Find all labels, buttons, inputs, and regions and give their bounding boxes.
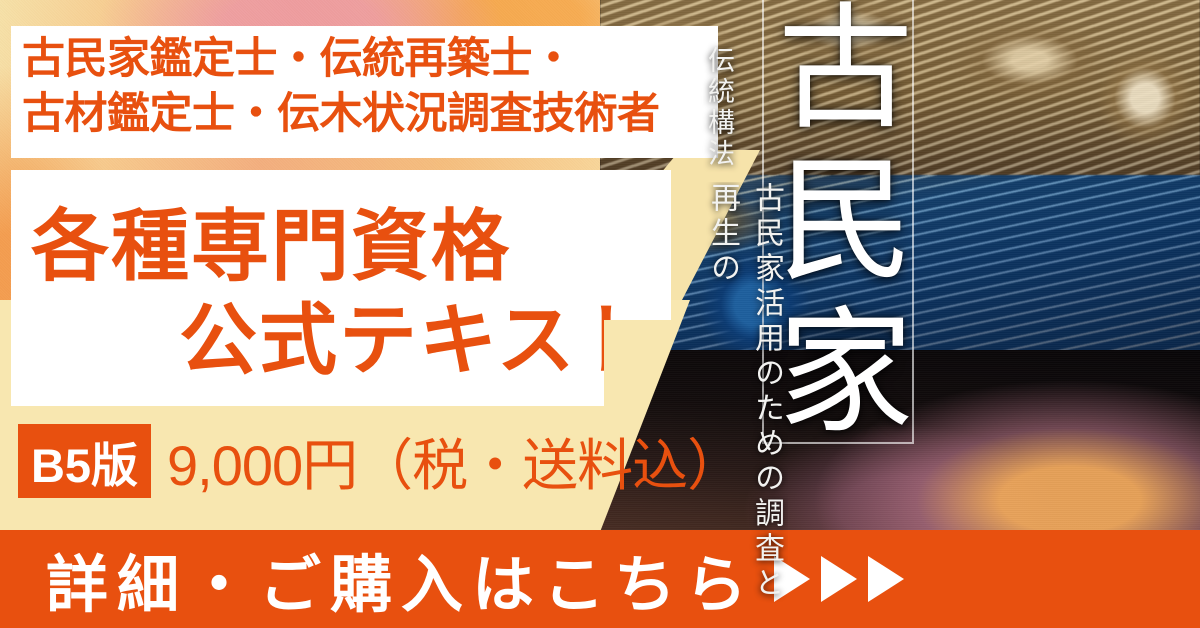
qualifications-text: 古民家鑑定士・伝統再築士・ 古材鑑定士・伝木状況調査技術者 [22, 32, 660, 142]
promo-banner: 古民家 伝統構法 古民家活用のための調査と再生の 古民家鑑定士・伝統再築士・ 古… [0, 0, 1200, 628]
qualifications-line-2: 古材鑑定士・伝木状況調査技術者 [22, 87, 660, 142]
book-cover-title: 古民家 [772, 0, 904, 452]
triangle-right-icon-3 [868, 556, 904, 602]
book-cover-subtitle-top: 伝統構法 [700, 46, 739, 170]
triangle-right-icon [774, 556, 904, 602]
triangle-right-icon-2 [821, 556, 857, 602]
book-cover-subtitle-main: 古民家活用のための調査と再生の [700, 182, 788, 612]
headline-panel: 各種専門資格 公式テキスト [11, 170, 671, 406]
book-size-badge: B5版 [18, 424, 151, 498]
qualifications-panel: 古民家鑑定士・伝統再築士・ 古材鑑定士・伝木状況調査技術者 [11, 26, 718, 158]
cta-label: 詳細・ご購入はこちら [46, 534, 756, 624]
price-row: B5版 9,000円（税・送料込） [18, 424, 742, 498]
price-amount: 9,000円（税・送料込） [167, 421, 742, 502]
headline-line-2: 公式テキスト [179, 278, 657, 390]
qualifications-line-1: 古民家鑑定士・伝統再築士・ [22, 32, 660, 87]
cta-button[interactable]: 詳細・ご購入はこちら [0, 530, 1200, 628]
